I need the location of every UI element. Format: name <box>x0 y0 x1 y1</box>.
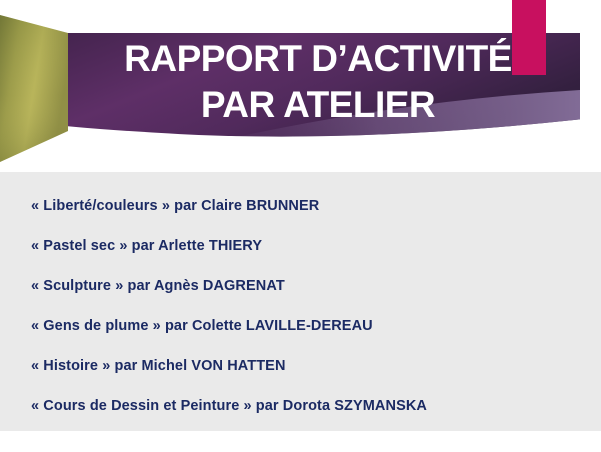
list-item: « Pastel sec » par Arlette THIERY <box>31 238 262 254</box>
header-artwork: RAPPORT D’ACTIVITÉ PAR ATELIER <box>0 0 601 172</box>
list-item: « Gens de plume » par Colette LAVILLE-DE… <box>31 318 373 334</box>
list-item: « Sculpture » par Agnès DAGRENAT <box>31 278 285 294</box>
list-item: « Liberté/couleurs » par Claire BRUNNER <box>31 198 319 214</box>
list-item: « Histoire » par Michel VON HATTEN <box>31 358 286 374</box>
magenta-accent-overlay <box>512 0 546 75</box>
list-item: « Cours de Dessin et Peinture » par Doro… <box>31 398 427 414</box>
slide-canvas: RAPPORT D’ACTIVITÉ PAR ATELIER « Liberté… <box>0 0 601 452</box>
purple-banner-shape <box>60 33 580 143</box>
bottom-white-strip <box>0 431 601 452</box>
